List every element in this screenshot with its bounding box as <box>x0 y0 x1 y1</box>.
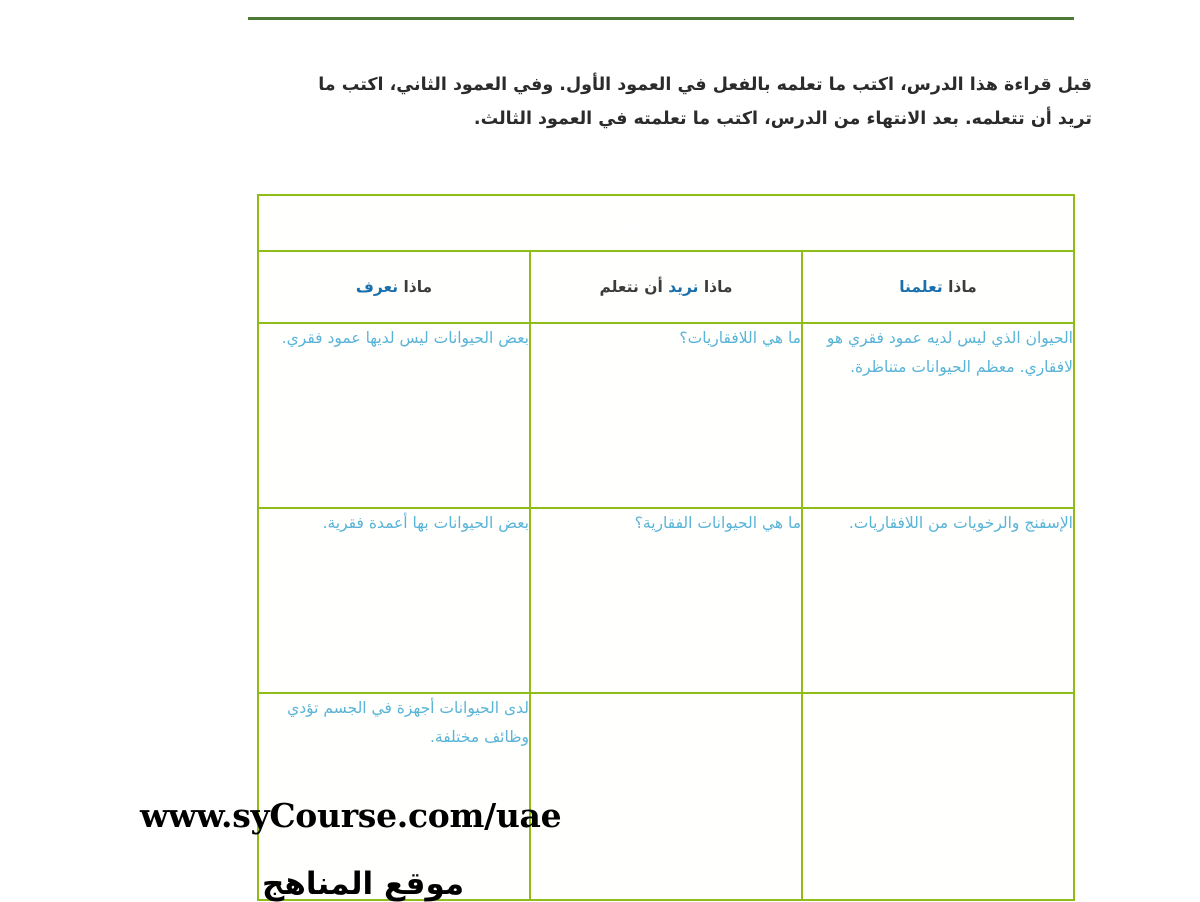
column-header-want-suffix: أن نتعلم <box>599 278 662 296</box>
table-header-row: ماذا تعلمنا ماذا نريد أن نتعلم ماذا نعرف <box>258 251 1074 323</box>
column-header-learned-prefix: ماذا <box>948 278 977 296</box>
worksheet-page: قبل قراءة هذا الدرس، اكتب ما تعلمه بالفع… <box>0 0 1200 900</box>
cell-want-2-text: ما هي الحيوانات الفقارية؟ <box>531 509 801 538</box>
cell-know-1-text: بعض الحيوانات ليس لديها عمود فقري. <box>259 324 529 353</box>
cell-learned-1[interactable]: الحيوان الذي ليس لديه عمود فقري هو لافقا… <box>802 323 1074 508</box>
cell-want-1[interactable]: ما هي اللافقاريات؟ <box>530 323 802 508</box>
kwl-table: مملكة الحيوان ماذا تعلمنا ماذا نريد أن ن… <box>257 194 1075 901</box>
table-title-row: مملكة الحيوان <box>258 195 1074 251</box>
cell-know-2[interactable]: بعض الحيوانات بها أعمدة فقرية. <box>258 508 530 693</box>
cell-know-3-text: لدى الحيوانات أجهزة في الجسم تؤدي وظائف … <box>259 694 529 752</box>
column-header-know: ماذا نعرف <box>258 251 530 323</box>
watermark-url: www.syCourse.com/uae <box>140 796 561 835</box>
cell-want-1-text: ما هي اللافقاريات؟ <box>531 324 801 353</box>
cell-know-2-text: بعض الحيوانات بها أعمدة فقرية. <box>259 509 529 538</box>
table-title: مملكة الحيوان <box>258 195 1074 251</box>
column-header-want-prefix: ماذا <box>704 278 733 296</box>
top-divider-rule <box>248 17 1074 20</box>
column-header-know-highlight: نعرف <box>356 278 398 296</box>
column-header-learned-highlight: تعلمنا <box>899 278 942 296</box>
column-header-know-prefix: ماذا <box>403 278 432 296</box>
cell-know-1[interactable]: بعض الحيوانات ليس لديها عمود فقري. <box>258 323 530 508</box>
table-row: الحيوان الذي ليس لديه عمود فقري هو لافقا… <box>258 323 1074 508</box>
instructions-paragraph: قبل قراءة هذا الدرس، اكتب ما تعلمه بالفع… <box>302 68 1092 136</box>
cell-learned-2[interactable]: الإسفنج والرخويات من اللافقاريات. <box>802 508 1074 693</box>
cell-want-2[interactable]: ما هي الحيوانات الفقارية؟ <box>530 508 802 693</box>
table-row: الإسفنج والرخويات من اللافقاريات. ما هي … <box>258 508 1074 693</box>
cell-want-3[interactable] <box>530 693 802 900</box>
cell-learned-1-text: الحيوان الذي ليس لديه عمود فقري هو لافقا… <box>803 324 1073 382</box>
column-header-want: ماذا نريد أن نتعلم <box>530 251 802 323</box>
column-header-want-highlight: نريد <box>668 278 698 296</box>
watermark-arabic-label: موقع المناهج <box>262 866 464 902</box>
cell-learned-2-text: الإسفنج والرخويات من اللافقاريات. <box>803 509 1073 538</box>
column-header-learned: ماذا تعلمنا <box>802 251 1074 323</box>
cell-learned-3[interactable] <box>802 693 1074 900</box>
